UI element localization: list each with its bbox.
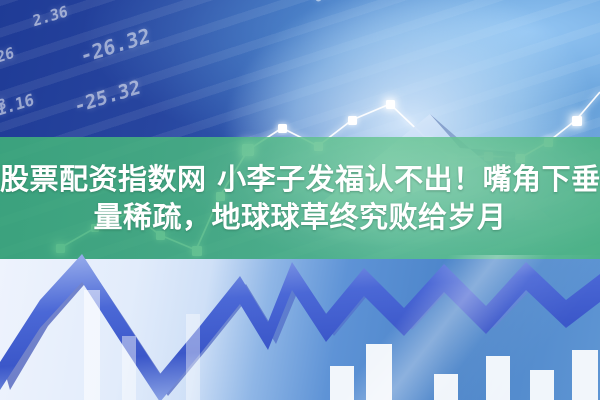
banner-image: -50.02 -26.32 +11.25 -02.36 45.02 4.36 1… xyxy=(0,0,600,400)
bar-chart-icon xyxy=(330,330,600,400)
page-title: 股票配资指数网 小李子发福认不出！嘴角下垂发 量稀疏，地球球草终究败给岁月 xyxy=(0,160,600,236)
headline-line-2: 量稀疏，地球球草终究败给岁月 xyxy=(0,198,600,236)
headline-line-1: 股票配资指数网 小李子发福认不出！嘴角下垂发 xyxy=(0,160,600,198)
